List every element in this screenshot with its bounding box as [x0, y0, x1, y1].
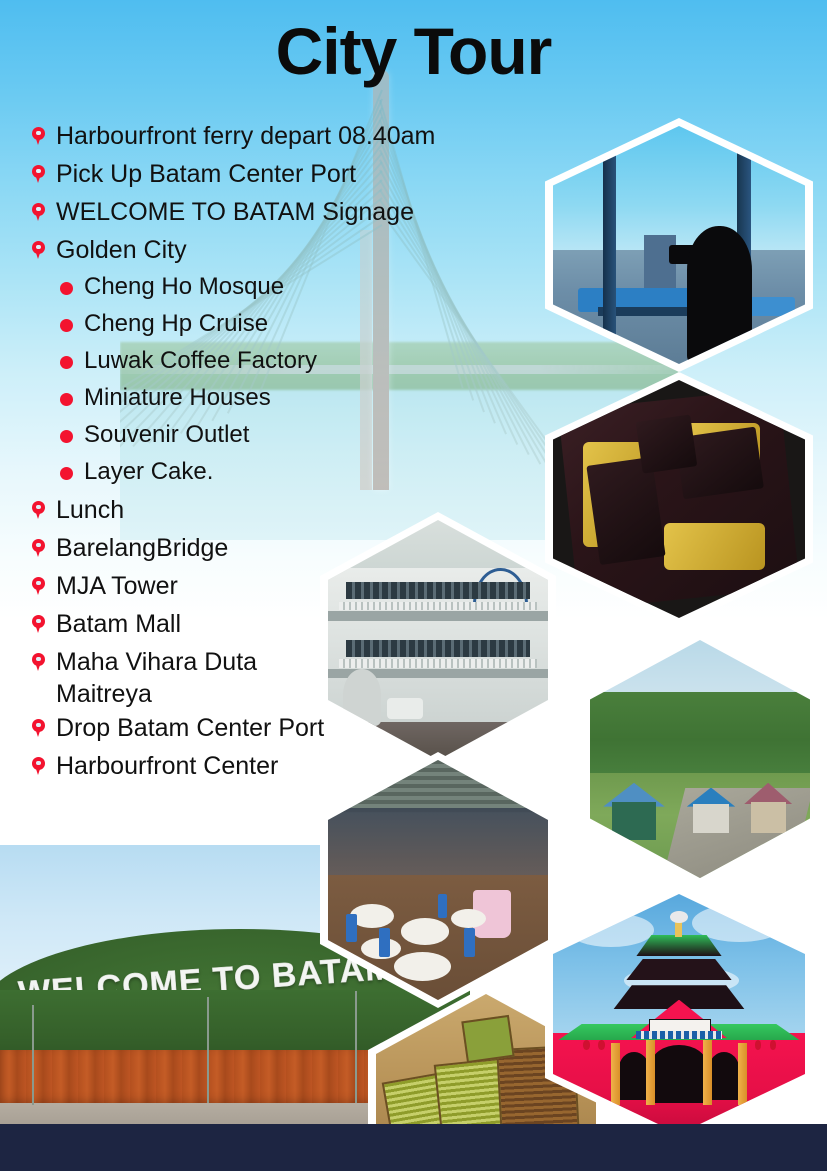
- page-title: City Tour: [0, 18, 827, 84]
- itinerary-item: Luwak Coffee Factory: [32, 346, 452, 381]
- bullet-dot-icon: [60, 356, 73, 369]
- roadside-pole: [32, 1005, 34, 1105]
- roadside-pole: [355, 991, 357, 1103]
- itinerary-item: Cheng Ho Mosque: [32, 272, 452, 307]
- map-pin-icon: [32, 165, 45, 184]
- itinerary-item-label: Batam Mall: [56, 608, 181, 640]
- itinerary-item-label: Harbourfront Center: [56, 750, 278, 782]
- map-pin-icon: [32, 615, 45, 634]
- bullet-dot-icon: [60, 282, 73, 295]
- itinerary-item: Souvenir Outlet: [32, 420, 452, 455]
- footer-bar: [0, 1124, 827, 1171]
- bullet-dot-icon: [60, 430, 73, 443]
- itinerary-item: Lunch: [32, 494, 452, 530]
- map-pin-icon: [32, 241, 45, 260]
- map-pin-icon: [32, 653, 45, 672]
- map-pin-icon: [32, 577, 45, 596]
- itinerary-item-label: MJA Tower: [56, 570, 178, 602]
- itinerary-item-label: Maha Vihara Duta Maitreya: [56, 646, 257, 710]
- itinerary-item-label: Harbourfront ferry depart 08.40am: [56, 120, 435, 152]
- itinerary-item: WELCOME TO BATAM Signage: [32, 196, 452, 232]
- bullet-dot-icon: [60, 319, 73, 332]
- itinerary-item: BarelangBridge: [32, 532, 452, 568]
- itinerary-item: Cheng Hp Cruise: [32, 309, 452, 344]
- itinerary-item: Maha Vihara Duta Maitreya: [32, 646, 452, 710]
- itinerary-item-label: Pick Up Batam Center Port: [56, 158, 356, 190]
- itinerary-item: Batam Mall: [32, 608, 452, 644]
- itinerary-item-label: Lunch: [56, 494, 124, 526]
- itinerary-item-label: Souvenir Outlet: [84, 420, 249, 451]
- roadside-pole: [207, 997, 209, 1103]
- map-pin-icon: [32, 501, 45, 520]
- itinerary-item-label: BarelangBridge: [56, 532, 228, 564]
- itinerary-item: MJA Tower: [32, 570, 452, 606]
- itinerary-item-label: Layer Cake.: [84, 457, 213, 488]
- map-pin-icon: [32, 539, 45, 558]
- city-tour-poster: WELCOME TO BATAM: [0, 0, 827, 1171]
- itinerary-item: Harbourfront ferry depart 08.40am: [32, 120, 452, 156]
- itinerary-item: Pick Up Batam Center Port: [32, 158, 452, 194]
- itinerary-list: Harbourfront ferry depart 08.40amPick Up…: [32, 120, 452, 788]
- itinerary-item-label: Drop Batam Center Port: [56, 712, 324, 744]
- itinerary-item-label: Cheng Hp Cruise: [84, 309, 268, 340]
- bullet-dot-icon: [60, 467, 73, 480]
- itinerary-item: Layer Cake.: [32, 457, 452, 492]
- itinerary-item-label: Cheng Ho Mosque: [84, 272, 284, 303]
- itinerary-item-label: Luwak Coffee Factory: [84, 346, 317, 377]
- map-pin-icon: [32, 719, 45, 738]
- itinerary-item: Miniature Houses: [32, 383, 452, 418]
- itinerary-item: Drop Batam Center Port: [32, 712, 452, 748]
- map-pin-icon: [32, 203, 45, 222]
- map-pin-icon: [32, 757, 45, 776]
- map-pin-icon: [32, 127, 45, 146]
- itinerary-item: Golden City: [32, 234, 452, 270]
- itinerary-item: Harbourfront Center: [32, 750, 452, 786]
- bullet-dot-icon: [60, 393, 73, 406]
- itinerary-item-label: Golden City: [56, 234, 187, 266]
- itinerary-item-label: Miniature Houses: [84, 383, 271, 414]
- itinerary-item-label: WELCOME TO BATAM Signage: [56, 196, 414, 228]
